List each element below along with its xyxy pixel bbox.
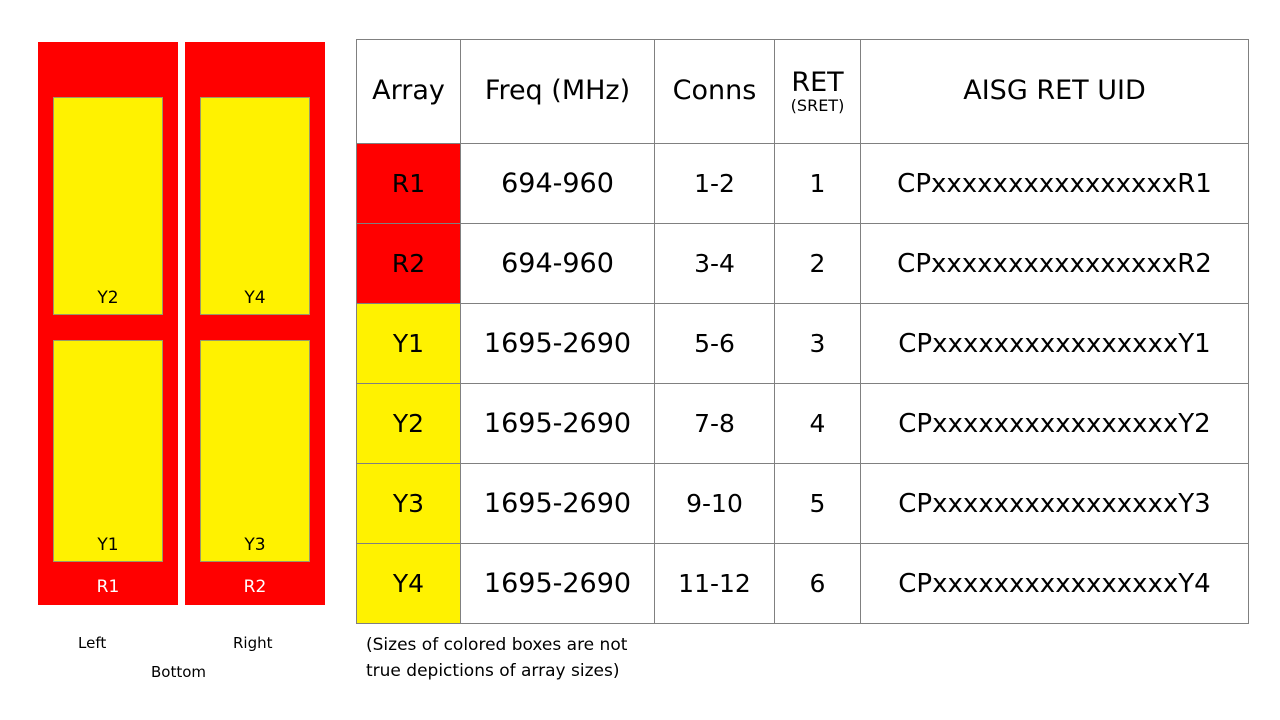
array-box-label: Y4 <box>244 288 265 308</box>
cell-ret: 3 <box>775 304 861 384</box>
cell-freq: 1695-2690 <box>461 544 655 624</box>
cell-uid: CPxxxxxxxxxxxxxxxxR2 <box>861 224 1249 304</box>
column-header-conns-label: Conns <box>655 77 774 105</box>
cell-ret: 6 <box>775 544 861 624</box>
antenna-panel-left: Y2 Y1 R1 <box>38 42 178 605</box>
cell-uid: CPxxxxxxxxxxxxxxxxY4 <box>861 544 1249 624</box>
cell-uid: CPxxxxxxxxxxxxxxxxY1 <box>861 304 1249 384</box>
column-header-ret-sublabel: (SRET) <box>775 97 860 115</box>
column-header-freq: Freq (MHz) <box>461 40 655 144</box>
table-row: Y11695-26905-63CPxxxxxxxxxxxxxxxxY1 <box>357 304 1249 384</box>
table-row: R1694-9601-21CPxxxxxxxxxxxxxxxxR1 <box>357 144 1249 224</box>
antenna-panel-right: Y4 Y3 R2 <box>185 42 325 605</box>
cell-conns: 7-8 <box>655 384 775 464</box>
footnote-line-1: (Sizes of colored boxes are not <box>366 632 786 658</box>
table-row: Y31695-26909-105CPxxxxxxxxxxxxxxxxY3 <box>357 464 1249 544</box>
array-box-y1: Y1 <box>53 340 163 562</box>
cell-conns: 5-6 <box>655 304 775 384</box>
array-box-y3: Y3 <box>200 340 310 562</box>
column-header-ret: RET (SRET) <box>775 40 861 144</box>
array-box-label: Y2 <box>97 288 118 308</box>
diagram-footnote: (Sizes of colored boxes are not true dep… <box>366 632 786 685</box>
column-header-ret-label: RET <box>775 69 860 97</box>
cell-uid: CPxxxxxxxxxxxxxxxxY3 <box>861 464 1249 544</box>
cell-conns: 3-4 <box>655 224 775 304</box>
column-header-freq-label: Freq (MHz) <box>461 77 654 105</box>
cell-ret: 5 <box>775 464 861 544</box>
array-box-label: Y3 <box>244 535 265 555</box>
cell-ret: 4 <box>775 384 861 464</box>
cell-ret: 1 <box>775 144 861 224</box>
column-header-uid: AISG RET UID <box>861 40 1249 144</box>
footnote-line-2: true depictions of array sizes) <box>366 658 786 684</box>
cell-conns: 9-10 <box>655 464 775 544</box>
cell-freq: 1695-2690 <box>461 464 655 544</box>
cell-freq: 1695-2690 <box>461 384 655 464</box>
table-row: R2694-9603-42CPxxxxxxxxxxxxxxxxR2 <box>357 224 1249 304</box>
cell-array: R1 <box>357 144 461 224</box>
cell-freq: 694-960 <box>461 144 655 224</box>
panel-label-r2: R2 <box>185 577 325 597</box>
cell-array: Y1 <box>357 304 461 384</box>
panel-label-r1: R1 <box>38 577 178 597</box>
array-box-label: Y1 <box>97 535 118 555</box>
orientation-label-bottom: Bottom <box>151 663 206 681</box>
array-box-y4: Y4 <box>200 97 310 315</box>
cell-conns: 1-2 <box>655 144 775 224</box>
cell-freq: 694-960 <box>461 224 655 304</box>
cell-ret: 2 <box>775 224 861 304</box>
cell-array: R2 <box>357 224 461 304</box>
orientation-label-left: Left <box>78 634 106 652</box>
orientation-label-right: Right <box>233 634 273 652</box>
column-header-uid-label: AISG RET UID <box>861 77 1248 105</box>
cell-array: Y4 <box>357 544 461 624</box>
cell-array: Y3 <box>357 464 461 544</box>
cell-uid: CPxxxxxxxxxxxxxxxxY2 <box>861 384 1249 464</box>
column-header-conns: Conns <box>655 40 775 144</box>
cell-array: Y2 <box>357 384 461 464</box>
column-header-array: Array <box>357 40 461 144</box>
ret-configuration-table: Array Freq (MHz) Conns RET (SRET) AISG R… <box>356 39 1249 624</box>
cell-uid: CPxxxxxxxxxxxxxxxxR1 <box>861 144 1249 224</box>
cell-conns: 11-12 <box>655 544 775 624</box>
table-row: Y41695-269011-126CPxxxxxxxxxxxxxxxxY4 <box>357 544 1249 624</box>
column-header-array-label: Array <box>357 77 460 105</box>
array-box-y2: Y2 <box>53 97 163 315</box>
table-row: Y21695-26907-84CPxxxxxxxxxxxxxxxxY2 <box>357 384 1249 464</box>
cell-freq: 1695-2690 <box>461 304 655 384</box>
table-header-row: Array Freq (MHz) Conns RET (SRET) AISG R… <box>357 40 1249 144</box>
antenna-array-diagram: Y2 Y1 R1 Y4 Y3 R2 Left Right Bottom <box>0 0 356 720</box>
